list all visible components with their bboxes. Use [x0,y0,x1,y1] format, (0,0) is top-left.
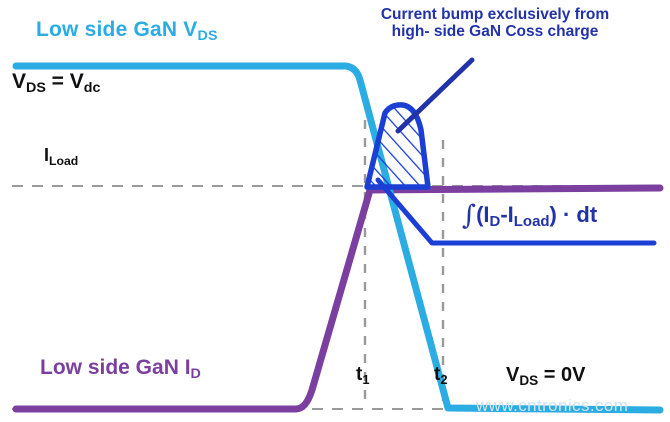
id-series-label: Low side GaN ID [40,356,201,380]
integral-symbol: ∫ [462,200,476,231]
id-subscript: D [191,366,201,382]
integral-annotation: ∫(ID-ILoad) · dt [462,199,597,229]
vds-subscript: DS [198,28,218,44]
vds-series-label: Low side GaN VDS [36,18,218,42]
t2-label: t2 [434,364,448,385]
t1-label: t1 [356,364,370,385]
bump-annotation-leader [398,60,472,131]
vds-dc-level-label: VDS = Vdc [12,70,100,94]
bump-annotation-line2: high- side GaN Coss charge [392,23,599,40]
watermark: www.cntronics.com [476,396,628,415]
figure-container: Low side GaN VDS VDS = Vdc ILoad Low sid… [0,0,670,422]
current-bump-annotation: Current bump exclusively from high- side… [321,6,669,41]
bump-annotation-line1: Current bump exclusively from [381,6,609,23]
iload-level-label: ILoad [44,145,78,165]
vds-zero-level-label: VDS = 0V [506,364,586,386]
